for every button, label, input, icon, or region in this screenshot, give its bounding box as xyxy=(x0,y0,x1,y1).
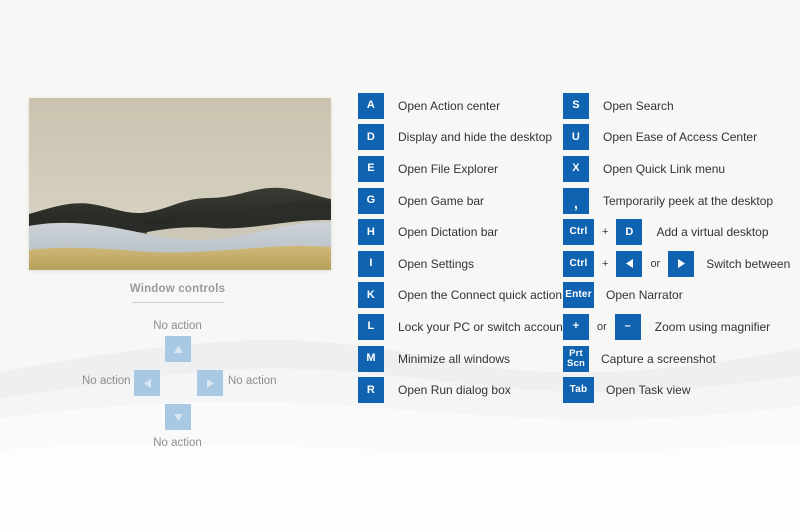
key-g[interactable]: G xyxy=(358,188,384,214)
shortcut-description: Open the Connect quick action xyxy=(384,288,562,302)
key-m[interactable]: M xyxy=(358,346,384,372)
triangle-right-icon xyxy=(678,259,685,268)
window-controls-divider xyxy=(132,302,224,303)
key-joiner-or: or xyxy=(642,258,668,270)
shortcut-description: Temporarily peek at the desktop xyxy=(589,194,773,208)
arrow-left-key[interactable] xyxy=(134,370,160,396)
shortcut-row[interactable]: Enter Open Narrator xyxy=(563,280,800,312)
key-ctrl[interactable]: Ctrl xyxy=(563,251,594,277)
window-controls-section: Window controls No action No action N xyxy=(0,283,355,435)
key-joiner-plus: + xyxy=(594,258,616,270)
shortcut-description: Open Narrator xyxy=(594,288,683,302)
key-a[interactable]: A xyxy=(358,93,384,119)
key-minus[interactable]: – xyxy=(615,314,641,340)
shortcut-row[interactable]: , Temporarily peek at the desktop xyxy=(563,185,800,217)
shortcut-description: Open Settings xyxy=(384,257,474,271)
shortcut-description: Display and hide the desktop xyxy=(384,130,552,144)
shortcut-row[interactable]: Ctrl + D Add a virtual desktop xyxy=(563,216,800,248)
arrow-right-key[interactable] xyxy=(197,370,223,396)
key-e[interactable]: E xyxy=(358,156,384,182)
key-joiner-plus: + xyxy=(594,226,616,238)
key-d[interactable]: D xyxy=(616,219,642,245)
key-x[interactable]: X xyxy=(563,156,589,182)
shortcut-row[interactable]: D Display and hide the desktop xyxy=(358,122,563,154)
shortcut-description: Open Run dialog box xyxy=(384,383,511,397)
wallpaper-preview-thumbnail[interactable] xyxy=(29,98,331,270)
triangle-right-icon xyxy=(207,379,214,388)
shortcut-row[interactable]: A Open Action center xyxy=(358,90,563,122)
shortcut-row[interactable]: Ctrl + or Switch between xyxy=(563,248,800,280)
shortcut-description: Minimize all windows xyxy=(384,352,510,366)
key-print-screen[interactable]: Prt Scn xyxy=(563,346,589,372)
shortcut-row[interactable]: Prt Scn Capture a screenshot xyxy=(563,343,800,375)
key-r[interactable]: R xyxy=(358,377,384,403)
shortcut-description: Open Search xyxy=(589,99,674,113)
shortcut-description: Open File Explorer xyxy=(384,162,498,176)
key-h[interactable]: H xyxy=(358,219,384,245)
key-ctrl[interactable]: Ctrl xyxy=(563,219,594,245)
left-panel: Window controls No action No action N xyxy=(0,0,355,532)
arrow-up-key[interactable] xyxy=(165,336,191,362)
window-controls-right-label: No action xyxy=(228,375,277,387)
shortcut-description: Open Action center xyxy=(384,99,500,113)
shortcut-description: Open Ease of Access Center xyxy=(589,130,757,144)
shortcut-row[interactable]: U Open Ease of Access Center xyxy=(563,122,800,154)
shortcut-description: Zoom using magnifier xyxy=(641,320,770,334)
key-k[interactable]: K xyxy=(358,282,384,308)
shortcut-list-column-1: A Open Action center D Display and hide … xyxy=(358,90,563,406)
shortcut-description: Open Game bar xyxy=(384,194,484,208)
shortcut-description: Open Task view xyxy=(594,383,691,397)
triangle-left-icon xyxy=(626,259,633,268)
shortcut-row[interactable]: L Lock your PC or switch accounts xyxy=(358,311,563,343)
key-enter[interactable]: Enter xyxy=(563,282,594,308)
key-comma[interactable]: , xyxy=(563,188,589,214)
wallpaper-landscape-art xyxy=(29,98,331,270)
key-tab[interactable]: Tab xyxy=(563,377,594,403)
key-i[interactable]: I xyxy=(358,251,384,277)
shortcut-description: Add a virtual desktop xyxy=(642,225,768,239)
key-right-arrow[interactable] xyxy=(668,251,694,277)
shortcut-description: Switch between xyxy=(694,257,790,271)
shortcut-row[interactable]: S Open Search xyxy=(563,90,800,122)
key-left-arrow[interactable] xyxy=(616,251,642,277)
key-u[interactable]: U xyxy=(563,124,589,150)
shortcut-row[interactable]: + or – Zoom using magnifier xyxy=(563,311,800,343)
shortcut-row[interactable]: G Open Game bar xyxy=(358,185,563,217)
key-d[interactable]: D xyxy=(358,124,384,150)
triangle-down-icon xyxy=(174,414,183,421)
triangle-up-icon xyxy=(174,346,183,353)
window-controls-down-label: No action xyxy=(0,437,355,449)
shortcut-row[interactable]: H Open Dictation bar xyxy=(358,216,563,248)
shortcut-row[interactable]: X Open Quick Link menu xyxy=(563,153,800,185)
window-controls-up-label: No action xyxy=(0,320,355,332)
shortcut-list-column-2: S Open Search U Open Ease of Access Cent… xyxy=(563,90,800,406)
arrow-down-key[interactable] xyxy=(165,404,191,430)
shortcut-description: Capture a screenshot xyxy=(589,352,716,366)
shortcut-row[interactable]: Tab Open Task view xyxy=(563,374,800,406)
key-l[interactable]: L xyxy=(358,314,384,340)
shortcut-row[interactable]: I Open Settings xyxy=(358,248,563,280)
window-controls-title: Window controls xyxy=(0,283,355,295)
shortcut-description: Lock your PC or switch accounts xyxy=(384,320,572,334)
window-controls-dpad: No action No action No action xyxy=(0,307,355,435)
triangle-left-icon xyxy=(144,379,151,388)
key-joiner-or: or xyxy=(589,321,615,333)
shortcut-row[interactable]: R Open Run dialog box xyxy=(358,374,563,406)
shortcut-description: Open Quick Link menu xyxy=(589,162,725,176)
shortcut-description: Open Dictation bar xyxy=(384,225,498,239)
window-controls-left-label: No action xyxy=(82,375,131,387)
key-plus[interactable]: + xyxy=(563,314,589,340)
shortcut-row[interactable]: M Minimize all windows xyxy=(358,343,563,375)
key-print-screen-line2: Scn xyxy=(567,359,585,369)
shortcut-row[interactable]: K Open the Connect quick action xyxy=(358,280,563,312)
shortcut-row[interactable]: E Open File Explorer xyxy=(358,153,563,185)
key-s[interactable]: S xyxy=(563,93,589,119)
